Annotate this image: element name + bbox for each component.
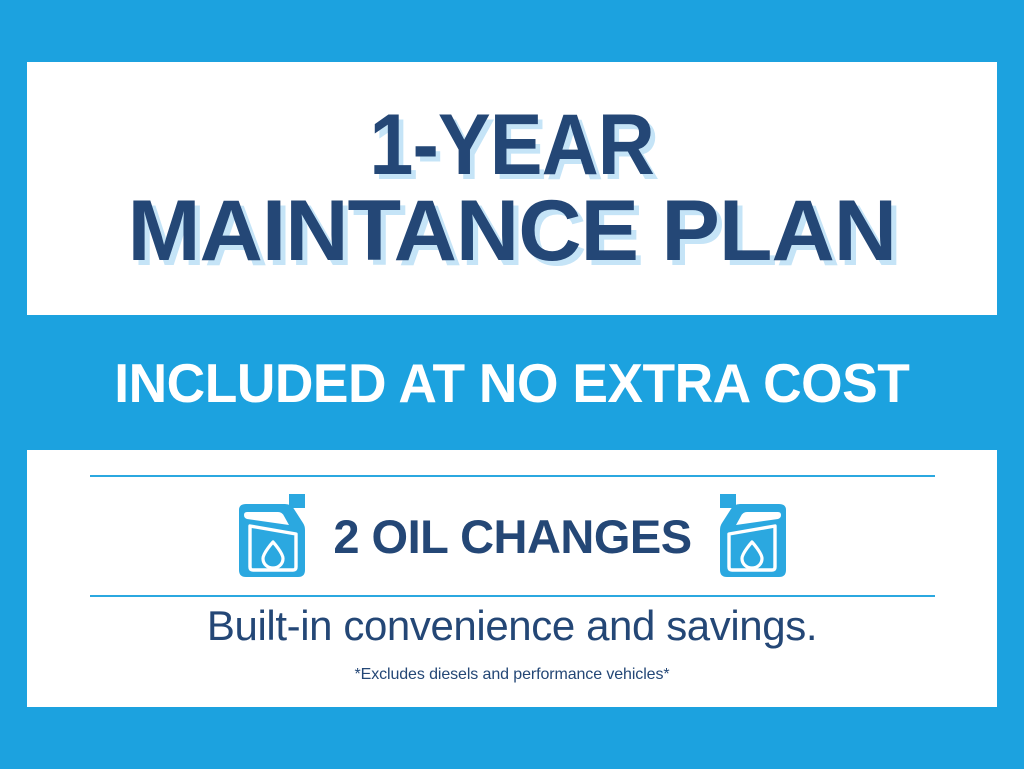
subheading-band: INCLUDED AT NO EXTRA COST bbox=[0, 315, 1024, 450]
oil-can-icon bbox=[233, 492, 307, 580]
headline-line-1: 1-YEAR bbox=[370, 106, 655, 185]
footnote-text: *Excludes diesels and performance vehicl… bbox=[27, 666, 997, 684]
headline-card: 1-YEAR MAINTANCE PLAN bbox=[27, 62, 997, 315]
tagline-text: Built-in convenience and savings. bbox=[27, 602, 997, 650]
promo-poster: 1-YEAR MAINTANCE PLAN INCLUDED AT NO EXT… bbox=[0, 0, 1024, 769]
oil-can-icon bbox=[718, 492, 792, 580]
divider-bottom bbox=[90, 595, 935, 597]
benefits-card: 2 OIL CHANGES Built-in convenience and s… bbox=[27, 450, 997, 707]
subheading-text: INCLUDED AT NO EXTRA COST bbox=[114, 351, 909, 415]
benefit-row: 2 OIL CHANGES bbox=[90, 477, 935, 595]
headline-line-2: MAINTANCE PLAN bbox=[128, 192, 897, 271]
benefit-label: 2 OIL CHANGES bbox=[333, 509, 691, 564]
